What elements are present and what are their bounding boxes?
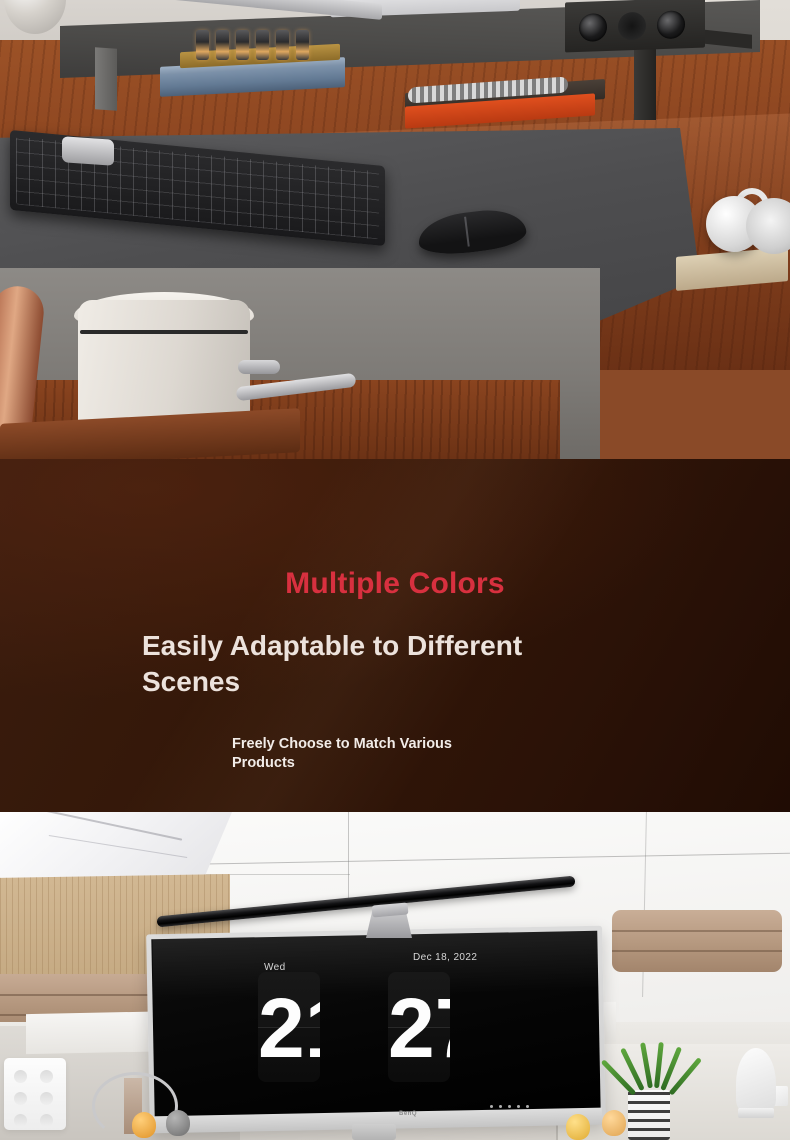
desk-organizer [4,1058,66,1130]
nixie-tube [296,30,309,60]
clock-hours: 21 [258,972,320,1082]
clock-minutes: 27 [388,972,450,1082]
nixie-tube [276,30,289,60]
top-product-image [0,0,790,459]
clock-minutes-group: 27 [388,972,450,1082]
monitor-control-dot[interactable] [508,1105,511,1108]
nixie-tube [216,30,229,60]
monitor-control-dot[interactable] [490,1105,493,1108]
wall-panel-seam-vertical-1 [348,812,349,907]
nixie-tube [196,30,209,60]
riser-leg-right [634,38,656,120]
bust-statue [736,1048,776,1110]
monitor-screen [151,931,600,1120]
panel-subheading: Easily Adaptable to Different Scenes [142,628,572,700]
office-chair-right [612,910,782,972]
panel-body-text: Freely Choose to Match Various Products [232,735,507,773]
plant-pot [628,1090,670,1140]
trash-can-seam [80,330,248,334]
bear-figurine-orange [132,1112,156,1138]
bust-statue-base [738,1108,774,1118]
bear-figurine-grey [166,1110,190,1136]
nixie-tube [256,30,269,60]
monitor-control-dot[interactable] [499,1105,502,1108]
monitor-stand-neck [352,1124,396,1140]
speaker-driver-left [579,13,607,42]
organizer-hole [14,1070,27,1083]
organizer-hole [14,1092,27,1105]
organizer-hole [14,1114,27,1127]
bear-figurine-tan [602,1110,626,1136]
center-channel-speaker [565,0,705,52]
clock-date: Dec 18, 2022 [413,952,477,963]
organizer-hole [40,1114,53,1127]
trash-can-handle [238,360,280,374]
marketing-text-panel: Multiple Colors Easily Adaptable to Diff… [0,459,790,812]
benq-logo: BenQ [399,1111,417,1117]
riser-leg-left [95,47,117,111]
panel-title: Multiple Colors [0,567,790,601]
clock-hours-group: 21 [258,972,320,1082]
keyboard-dial-knob [62,136,114,166]
monitor-control-dot[interactable] [526,1105,529,1108]
product-detail-page: Multiple Colors Easily Adaptable to Diff… [0,0,790,1140]
speaker-driver-center [618,12,646,41]
bear-figurine-yellow [566,1114,590,1140]
organizer-hole [40,1070,53,1083]
monitor-control-dots [490,1105,529,1108]
organizer-hole [40,1092,53,1105]
nixie-tube [236,30,249,60]
monitor-control-dot[interactable] [517,1105,520,1108]
speaker-driver-right [657,10,685,39]
